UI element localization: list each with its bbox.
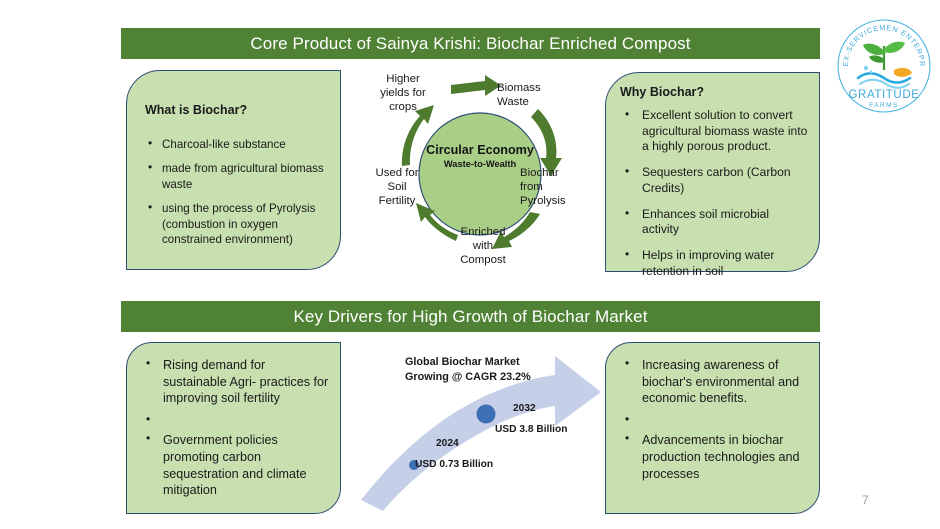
section-header-key-drivers-label: Key Drivers for High Growth of Biochar M… — [293, 307, 647, 327]
circular-economy-diagram: Circular Economy Waste-to-Wealth Higher … — [368, 64, 603, 279]
page-number: 7 — [862, 493, 869, 507]
list-item-empty — [618, 413, 809, 424]
cycle-stage-higher-yields-for-crops: Higher yields for crops — [364, 73, 442, 115]
logo-brand-text: GRATITUDE — [849, 89, 920, 101]
drivers-left-list: Rising demand for sustainable Agri- prac… — [139, 357, 330, 499]
data-point-2032 — [477, 405, 496, 424]
list-item: made from agricultural biomass waste — [145, 161, 326, 192]
panel-drivers-left: Rising demand for sustainable Agri- prac… — [126, 342, 341, 514]
cycle-stage-enriched-with-compost: Enriched with Compost — [443, 226, 523, 268]
what-is-biochar-title: What is Biochar? — [145, 103, 326, 117]
gratitude-farms-logo: AN EX-SERVICEMEN ENTERPRISE GRATITUDE FA… — [836, 18, 932, 114]
list-item: Excellent solution to convert agricultur… — [620, 108, 809, 155]
section-header-core-product-label: Core Product of Sainya Krishi: Biochar E… — [250, 34, 690, 54]
section-header-core-product: Core Product of Sainya Krishi: Biochar E… — [121, 28, 820, 59]
slide-canvas: Core Product of Sainya Krishi: Biochar E… — [0, 0, 940, 529]
panel-drivers-right: Increasing awareness of biochar's enviro… — [605, 342, 820, 514]
list-item-empty — [139, 413, 330, 424]
list-item: Government policies promoting carbon seq… — [139, 432, 330, 499]
drivers-right-list: Increasing awareness of biochar's enviro… — [618, 357, 809, 482]
panel-what-is-biochar: What is Biochar? Charcoal-like substance… — [126, 70, 341, 270]
panel-why-biochar: Why Biochar? Excellent solution to conve… — [605, 72, 820, 272]
list-item: Enhances soil microbial activity — [620, 207, 809, 238]
market-chart-title: Global Biochar Market Growing @ CAGR 23.… — [405, 355, 531, 384]
why-biochar-title: Why Biochar? — [620, 85, 809, 99]
core-title: Circular Economy — [419, 142, 541, 158]
list-item: Charcoal-like substance — [145, 137, 326, 152]
market-growth-chart: Global Biochar Market Growing @ CAGR 23.… — [355, 348, 605, 513]
list-item: using the process of Pyrolysis (combusti… — [145, 201, 326, 247]
list-item: Rising demand for sustainable Agri- prac… — [139, 357, 330, 407]
logo-graphic: AN EX-SERVICEMEN ENTERPRISE GRATITUDE FA… — [836, 18, 932, 114]
list-item: Increasing awareness of biochar's enviro… — [618, 357, 809, 407]
data-label-2024-year: 2024 — [436, 438, 459, 449]
list-item: Advancements in biochar production techn… — [618, 432, 809, 482]
panel-drivers-left-inner: Rising demand for sustainable Agri- prac… — [127, 343, 340, 499]
data-label-2032-value: USD 3.8 Billion — [495, 424, 567, 435]
section-header-key-drivers: Key Drivers for High Growth of Biochar M… — [121, 301, 820, 332]
data-label-2032-year: 2032 — [513, 403, 536, 414]
why-biochar-list: Excellent solution to convert agricultur… — [620, 108, 809, 279]
cycle-stage-used-for-soil-fertility: Used for Soil Fertility — [358, 167, 436, 209]
logo-sub-brand-text: FARMS — [869, 102, 898, 109]
circular-economy-core-text: Circular Economy Waste-to-Wealth — [419, 142, 541, 169]
what-is-biochar-list: Charcoal-like substance made from agricu… — [145, 137, 326, 247]
list-item: Helps in improving water retention in so… — [620, 248, 809, 279]
cycle-stage-biomass-waste: Biomass Waste — [497, 82, 577, 110]
panel-why-biochar-inner: Why Biochar? Excellent solution to conve… — [606, 73, 819, 279]
panel-drivers-right-inner: Increasing awareness of biochar's enviro… — [606, 343, 819, 482]
cycle-stage-biochar-from-pyrolysis: Biochar from Pyrolysis — [520, 167, 592, 209]
arrow-to-biomass-icon — [451, 75, 501, 96]
data-label-2024-value: USD 0.73 Billion — [415, 459, 493, 470]
panel-what-is-biochar-inner: What is Biochar? Charcoal-like substance… — [127, 71, 340, 247]
list-item: Sequesters carbon (Carbon Credits) — [620, 165, 809, 196]
